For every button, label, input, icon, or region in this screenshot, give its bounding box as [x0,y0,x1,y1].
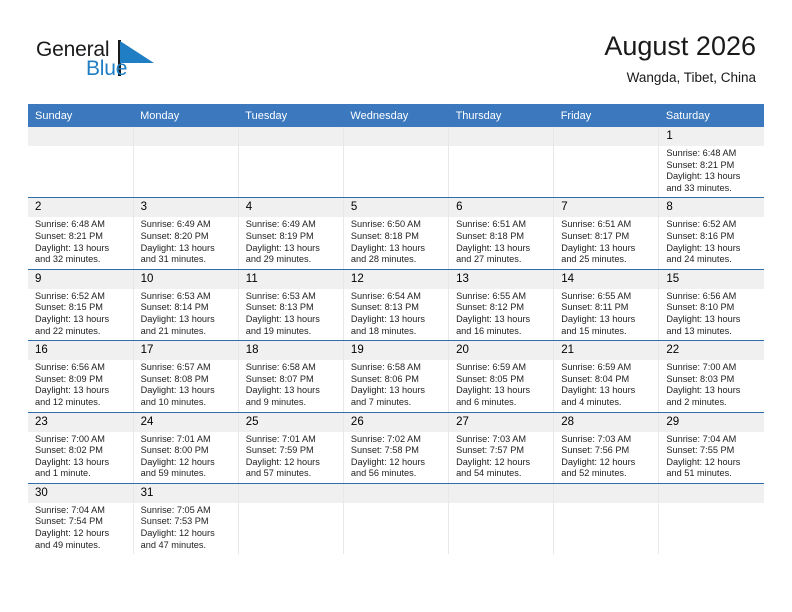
daylight-duration-line1: Daylight: 12 hours [141,457,232,469]
daylight-duration-line1: Daylight: 12 hours [246,457,337,469]
day-sun-info: Sunrise: 6:48 AMSunset: 8:21 PMDaylight:… [28,217,133,268]
daylight-duration-line2: and 28 minutes. [351,254,442,266]
day-cell-empty [28,127,133,198]
day-sun-info: Sunrise: 7:04 AMSunset: 7:55 PMDaylight:… [659,432,764,483]
daylight-duration-line2: and 27 minutes. [456,254,547,266]
calendar-week-row: 1Sunrise: 6:48 AMSunset: 8:21 PMDaylight… [28,127,764,198]
daylight-duration-line2: and 29 minutes. [246,254,337,266]
sunrise-time: Sunrise: 6:57 AM [141,362,232,374]
sunset-time: Sunset: 7:56 PM [561,445,652,457]
page-header: General Blue August 2026 Wangda, Tibet, … [0,0,792,104]
sunrise-time: Sunrise: 7:01 AM [141,434,232,446]
sunset-time: Sunset: 8:20 PM [141,231,232,243]
sunset-time: Sunset: 8:10 PM [666,302,758,314]
sunset-time: Sunset: 7:57 PM [456,445,547,457]
day-number: 25 [239,413,343,432]
sunset-time: Sunset: 8:07 PM [246,374,337,386]
sunset-time: Sunset: 8:21 PM [666,160,758,172]
day-number [554,484,658,503]
day-cell-empty [343,483,448,554]
day-cell-empty [659,483,764,554]
sunrise-time: Sunrise: 6:51 AM [456,219,547,231]
sunset-time: Sunset: 8:16 PM [666,231,758,243]
day-sun-info: Sunrise: 7:03 AMSunset: 7:56 PMDaylight:… [554,432,658,483]
day-cell-empty [554,127,659,198]
sunset-time: Sunset: 8:17 PM [561,231,652,243]
day-number: 10 [134,270,238,289]
sunset-time: Sunset: 7:53 PM [141,516,232,528]
day-number [239,127,343,146]
day-sun-info: Sunrise: 7:01 AMSunset: 8:00 PMDaylight:… [134,432,238,483]
daylight-duration-line2: and 10 minutes. [141,397,232,409]
day-number [28,127,133,146]
sunrise-time: Sunrise: 7:03 AM [561,434,652,446]
day-cell[interactable]: 8Sunrise: 6:52 AMSunset: 8:16 PMDaylight… [659,198,764,269]
day-cell-empty [238,127,343,198]
sunset-time: Sunset: 8:13 PM [351,302,442,314]
weekday-header-row: SundayMondayTuesdayWednesdayThursdayFrid… [28,104,764,127]
sunset-time: Sunset: 8:14 PM [141,302,232,314]
day-number: 26 [344,413,448,432]
daylight-duration-line1: Daylight: 13 hours [141,314,232,326]
daylight-duration-line1: Daylight: 13 hours [246,385,337,397]
day-sun-info: Sunrise: 6:59 AMSunset: 8:04 PMDaylight:… [554,360,658,411]
day-sun-info: Sunrise: 6:56 AMSunset: 8:09 PMDaylight:… [28,360,133,411]
calendar-week-row: 23Sunrise: 7:00 AMSunset: 8:02 PMDayligh… [28,412,764,483]
sunset-time: Sunset: 8:18 PM [456,231,547,243]
daylight-duration-line1: Daylight: 13 hours [666,314,758,326]
sunset-time: Sunset: 8:19 PM [246,231,337,243]
sunrise-time: Sunrise: 6:58 AM [351,362,442,374]
day-cell[interactable]: 22Sunrise: 7:00 AMSunset: 8:03 PMDayligh… [659,341,764,412]
daylight-duration-line1: Daylight: 12 hours [456,457,547,469]
day-cell[interactable]: 30Sunrise: 7:04 AMSunset: 7:54 PMDayligh… [28,483,133,554]
daylight-duration-line1: Daylight: 13 hours [666,171,758,183]
weekday-header-wednesday: Wednesday [343,104,448,127]
day-cell[interactable]: 24Sunrise: 7:01 AMSunset: 8:00 PMDayligh… [133,412,238,483]
day-sun-info: Sunrise: 7:04 AMSunset: 7:54 PMDaylight:… [28,503,133,554]
day-cell-empty [343,127,448,198]
sunrise-sunset-calendar: SundayMondayTuesdayWednesdayThursdayFrid… [28,104,764,554]
title-block: August 2026 Wangda, Tibet, China [604,30,756,88]
day-number: 4 [239,198,343,217]
sunset-time: Sunset: 8:05 PM [456,374,547,386]
day-number [134,127,238,146]
day-number: 2 [28,198,133,217]
daylight-duration-line1: Daylight: 13 hours [141,385,232,397]
day-sun-info: Sunrise: 6:52 AMSunset: 8:16 PMDaylight:… [659,217,764,268]
day-number: 31 [134,484,238,503]
daylight-duration-line1: Daylight: 13 hours [35,457,127,469]
sunset-time: Sunset: 7:54 PM [35,516,127,528]
sunset-time: Sunset: 8:00 PM [141,445,232,457]
day-number [449,484,553,503]
day-sun-info: Sunrise: 6:59 AMSunset: 8:05 PMDaylight:… [449,360,553,411]
day-cell[interactable]: 2Sunrise: 6:48 AMSunset: 8:21 PMDaylight… [28,198,133,269]
day-cell[interactable]: 23Sunrise: 7:00 AMSunset: 8:02 PMDayligh… [28,412,133,483]
day-cell[interactable]: 5Sunrise: 6:50 AMSunset: 8:18 PMDaylight… [343,198,448,269]
daylight-duration-line2: and 25 minutes. [561,254,652,266]
day-sun-info: Sunrise: 6:51 AMSunset: 8:18 PMDaylight:… [449,217,553,268]
sunrise-time: Sunrise: 6:56 AM [35,362,127,374]
calendar-week-row: 9Sunrise: 6:52 AMSunset: 8:15 PMDaylight… [28,269,764,340]
sunrise-time: Sunrise: 6:59 AM [561,362,652,374]
day-number: 27 [449,413,553,432]
sunrise-time: Sunrise: 6:54 AM [351,291,442,303]
weekday-header-sunday: Sunday [28,104,133,127]
day-cell[interactable]: 20Sunrise: 6:59 AMSunset: 8:05 PMDayligh… [449,341,554,412]
day-number: 30 [28,484,133,503]
sunrise-time: Sunrise: 6:52 AM [35,291,127,303]
daylight-duration-line1: Daylight: 13 hours [246,243,337,255]
daylight-duration-line1: Daylight: 12 hours [351,457,442,469]
daylight-duration-line1: Daylight: 13 hours [141,243,232,255]
day-number: 29 [659,413,764,432]
sunrise-time: Sunrise: 6:48 AM [666,148,758,160]
day-sun-info: Sunrise: 7:00 AMSunset: 8:02 PMDaylight:… [28,432,133,483]
day-sun-info: Sunrise: 7:01 AMSunset: 7:59 PMDaylight:… [239,432,343,483]
daylight-duration-line2: and 57 minutes. [246,468,337,480]
day-cell[interactable]: 6Sunrise: 6:51 AMSunset: 8:18 PMDaylight… [449,198,554,269]
sunrise-time: Sunrise: 6:59 AM [456,362,547,374]
day-cell-empty [238,483,343,554]
sunset-time: Sunset: 8:02 PM [35,445,127,457]
day-number: 12 [344,270,448,289]
day-cell[interactable]: 14Sunrise: 6:55 AMSunset: 8:11 PMDayligh… [554,269,659,340]
sunrise-time: Sunrise: 6:55 AM [561,291,652,303]
daylight-duration-line2: and 13 minutes. [666,326,758,338]
day-cell-empty [449,483,554,554]
day-cell[interactable]: 25Sunrise: 7:01 AMSunset: 7:59 PMDayligh… [238,412,343,483]
day-number: 3 [134,198,238,217]
day-number: 22 [659,341,764,360]
daylight-duration-line2: and 16 minutes. [456,326,547,338]
day-sun-info: Sunrise: 6:50 AMSunset: 8:18 PMDaylight:… [344,217,448,268]
daylight-duration-line2: and 56 minutes. [351,468,442,480]
day-number: 21 [554,341,658,360]
day-number [449,127,553,146]
daylight-duration-line1: Daylight: 13 hours [351,243,442,255]
daylight-duration-line1: Daylight: 13 hours [246,314,337,326]
day-number: 15 [659,270,764,289]
day-number: 1 [659,127,764,146]
day-cell[interactable]: 27Sunrise: 7:03 AMSunset: 7:57 PMDayligh… [449,412,554,483]
day-number [659,484,764,503]
sunrise-time: Sunrise: 6:50 AM [351,219,442,231]
sunset-time: Sunset: 7:58 PM [351,445,442,457]
sunset-time: Sunset: 8:11 PM [561,302,652,314]
daylight-duration-line1: Daylight: 13 hours [456,243,547,255]
daylight-duration-line1: Daylight: 13 hours [35,314,127,326]
daylight-duration-line1: Daylight: 13 hours [561,385,652,397]
calendar-week-row: 30Sunrise: 7:04 AMSunset: 7:54 PMDayligh… [28,483,764,554]
daylight-duration-line2: and 32 minutes. [35,254,127,266]
daylight-duration-line1: Daylight: 13 hours [35,385,127,397]
daylight-duration-line1: Daylight: 12 hours [666,457,758,469]
sunrise-time: Sunrise: 6:56 AM [666,291,758,303]
sunset-time: Sunset: 8:03 PM [666,374,758,386]
page-title: August 2026 [604,30,756,62]
logo-text-blue: Blue [86,57,127,81]
daylight-duration-line1: Daylight: 13 hours [666,243,758,255]
sunrise-time: Sunrise: 6:52 AM [666,219,758,231]
day-number: 14 [554,270,658,289]
day-sun-info: Sunrise: 6:52 AMSunset: 8:15 PMDaylight:… [28,289,133,340]
day-sun-info: Sunrise: 6:58 AMSunset: 8:07 PMDaylight:… [239,360,343,411]
day-sun-info: Sunrise: 6:49 AMSunset: 8:19 PMDaylight:… [239,217,343,268]
day-number: 13 [449,270,553,289]
day-cell[interactable]: 7Sunrise: 6:51 AMSunset: 8:17 PMDaylight… [554,198,659,269]
sunset-time: Sunset: 8:04 PM [561,374,652,386]
daylight-duration-line1: Daylight: 13 hours [351,314,442,326]
day-sun-info: Sunrise: 6:53 AMSunset: 8:14 PMDaylight:… [134,289,238,340]
weekday-header-saturday: Saturday [659,104,764,127]
calendar-week-row: 2Sunrise: 6:48 AMSunset: 8:21 PMDaylight… [28,198,764,269]
day-number: 23 [28,413,133,432]
daylight-duration-line2: and 59 minutes. [141,468,232,480]
sunrise-time: Sunrise: 7:04 AM [35,505,127,517]
day-number [554,127,658,146]
calendar-header-row: SundayMondayTuesdayWednesdayThursdayFrid… [28,104,764,127]
day-sun-info: Sunrise: 7:00 AMSunset: 8:03 PMDaylight:… [659,360,764,411]
daylight-duration-line2: and 47 minutes. [141,540,232,552]
day-cell[interactable]: 3Sunrise: 6:49 AMSunset: 8:20 PMDaylight… [133,198,238,269]
sunset-time: Sunset: 8:13 PM [246,302,337,314]
day-cell[interactable]: 18Sunrise: 6:58 AMSunset: 8:07 PMDayligh… [238,341,343,412]
day-sun-info: Sunrise: 6:55 AMSunset: 8:12 PMDaylight:… [449,289,553,340]
daylight-duration-line1: Daylight: 13 hours [456,314,547,326]
daylight-duration-line2: and 12 minutes. [35,397,127,409]
sunset-time: Sunset: 8:09 PM [35,374,127,386]
day-sun-info: Sunrise: 7:02 AMSunset: 7:58 PMDaylight:… [344,432,448,483]
sunrise-time: Sunrise: 7:05 AM [141,505,232,517]
daylight-duration-line1: Daylight: 13 hours [561,243,652,255]
daylight-duration-line2: and 52 minutes. [561,468,652,480]
day-sun-info: Sunrise: 7:05 AMSunset: 7:53 PMDaylight:… [134,503,238,554]
day-cell[interactable]: 9Sunrise: 6:52 AMSunset: 8:15 PMDaylight… [28,269,133,340]
day-cell[interactable]: 16Sunrise: 6:56 AMSunset: 8:09 PMDayligh… [28,341,133,412]
day-number [344,484,448,503]
page-subtitle: Wangda, Tibet, China [604,68,756,88]
sunset-time: Sunset: 8:06 PM [351,374,442,386]
sunset-time: Sunset: 8:15 PM [35,302,127,314]
day-sun-info: Sunrise: 6:54 AMSunset: 8:13 PMDaylight:… [344,289,448,340]
sunrise-time: Sunrise: 6:51 AM [561,219,652,231]
sunrise-time: Sunrise: 7:02 AM [351,434,442,446]
day-cell[interactable]: 1Sunrise: 6:48 AMSunset: 8:21 PMDaylight… [659,127,764,198]
daylight-duration-line2: and 18 minutes. [351,326,442,338]
daylight-duration-line2: and 21 minutes. [141,326,232,338]
day-cell[interactable]: 11Sunrise: 6:53 AMSunset: 8:13 PMDayligh… [238,269,343,340]
day-cell[interactable]: 28Sunrise: 7:03 AMSunset: 7:56 PMDayligh… [554,412,659,483]
day-number: 5 [344,198,448,217]
daylight-duration-line1: Daylight: 13 hours [561,314,652,326]
day-sun-info: Sunrise: 6:48 AMSunset: 8:21 PMDaylight:… [659,146,764,197]
day-sun-info: Sunrise: 6:56 AMSunset: 8:10 PMDaylight:… [659,289,764,340]
day-cell-empty [554,483,659,554]
sunrise-time: Sunrise: 6:49 AM [141,219,232,231]
day-number: 7 [554,198,658,217]
day-number [344,127,448,146]
sunrise-time: Sunrise: 6:48 AM [35,219,127,231]
daylight-duration-line1: Daylight: 12 hours [141,528,232,540]
sunrise-time: Sunrise: 6:55 AM [456,291,547,303]
daylight-duration-line2: and 49 minutes. [35,540,127,552]
daylight-duration-line1: Daylight: 13 hours [456,385,547,397]
sunrise-time: Sunrise: 7:04 AM [666,434,758,446]
day-cell[interactable]: 19Sunrise: 6:58 AMSunset: 8:06 PMDayligh… [343,341,448,412]
daylight-duration-line2: and 2 minutes. [666,397,758,409]
sunset-time: Sunset: 8:18 PM [351,231,442,243]
calendar-page: General Blue August 2026 Wangda, Tibet, … [0,0,792,612]
day-number: 17 [134,341,238,360]
daylight-duration-line2: and 22 minutes. [35,326,127,338]
daylight-duration-line2: and 54 minutes. [456,468,547,480]
sunrise-time: Sunrise: 6:53 AM [141,291,232,303]
day-number: 20 [449,341,553,360]
day-cell[interactable]: 21Sunrise: 6:59 AMSunset: 8:04 PMDayligh… [554,341,659,412]
sunrise-time: Sunrise: 7:01 AM [246,434,337,446]
day-sun-info: Sunrise: 6:53 AMSunset: 8:13 PMDaylight:… [239,289,343,340]
daylight-duration-line2: and 51 minutes. [666,468,758,480]
day-sun-info: Sunrise: 7:03 AMSunset: 7:57 PMDaylight:… [449,432,553,483]
day-number: 16 [28,341,133,360]
day-sun-info: Sunrise: 6:51 AMSunset: 8:17 PMDaylight:… [554,217,658,268]
daylight-duration-line2: and 15 minutes. [561,326,652,338]
day-sun-info: Sunrise: 6:58 AMSunset: 8:06 PMDaylight:… [344,360,448,411]
sunrise-time: Sunrise: 6:49 AM [246,219,337,231]
day-cell[interactable]: 31Sunrise: 7:05 AMSunset: 7:53 PMDayligh… [133,483,238,554]
day-cell[interactable]: 12Sunrise: 6:54 AMSunset: 8:13 PMDayligh… [343,269,448,340]
day-number: 18 [239,341,343,360]
day-sun-info: Sunrise: 6:55 AMSunset: 8:11 PMDaylight:… [554,289,658,340]
daylight-duration-line2: and 9 minutes. [246,397,337,409]
daylight-duration-line2: and 19 minutes. [246,326,337,338]
sunset-time: Sunset: 7:59 PM [246,445,337,457]
sunrise-time: Sunrise: 7:00 AM [666,362,758,374]
sunset-time: Sunset: 8:21 PM [35,231,127,243]
day-cell[interactable]: 13Sunrise: 6:55 AMSunset: 8:12 PMDayligh… [449,269,554,340]
daylight-duration-line2: and 7 minutes. [351,397,442,409]
day-cell[interactable]: 17Sunrise: 6:57 AMSunset: 8:08 PMDayligh… [133,341,238,412]
day-number: 11 [239,270,343,289]
daylight-duration-line2: and 24 minutes. [666,254,758,266]
day-number: 9 [28,270,133,289]
daylight-duration-line2: and 33 minutes. [666,183,758,195]
generalblue-logo[interactable]: General Blue [36,38,176,88]
day-number: 19 [344,341,448,360]
day-cell[interactable]: 26Sunrise: 7:02 AMSunset: 7:58 PMDayligh… [343,412,448,483]
calendar-body: 1Sunrise: 6:48 AMSunset: 8:21 PMDaylight… [28,127,764,554]
day-cell[interactable]: 10Sunrise: 6:53 AMSunset: 8:14 PMDayligh… [133,269,238,340]
sunrise-time: Sunrise: 6:58 AM [246,362,337,374]
daylight-duration-line1: Daylight: 12 hours [561,457,652,469]
sunrise-time: Sunrise: 7:00 AM [35,434,127,446]
daylight-duration-line2: and 1 minute. [35,468,127,480]
weekday-header-thursday: Thursday [449,104,554,127]
day-sun-info: Sunrise: 6:57 AMSunset: 8:08 PMDaylight:… [134,360,238,411]
day-number: 24 [134,413,238,432]
daylight-duration-line1: Daylight: 13 hours [351,385,442,397]
daylight-duration-line2: and 6 minutes. [456,397,547,409]
day-cell[interactable]: 4Sunrise: 6:49 AMSunset: 8:19 PMDaylight… [238,198,343,269]
day-number: 8 [659,198,764,217]
calendar-week-row: 16Sunrise: 6:56 AMSunset: 8:09 PMDayligh… [28,341,764,412]
sunset-time: Sunset: 8:12 PM [456,302,547,314]
weekday-header-tuesday: Tuesday [238,104,343,127]
day-cell[interactable]: 29Sunrise: 7:04 AMSunset: 7:55 PMDayligh… [659,412,764,483]
day-number: 28 [554,413,658,432]
daylight-duration-line1: Daylight: 13 hours [666,385,758,397]
daylight-duration-line2: and 31 minutes. [141,254,232,266]
daylight-duration-line1: Daylight: 12 hours [35,528,127,540]
day-sun-info: Sunrise: 6:49 AMSunset: 8:20 PMDaylight:… [134,217,238,268]
weekday-header-friday: Friday [554,104,659,127]
sunset-time: Sunset: 8:08 PM [141,374,232,386]
day-cell-empty [133,127,238,198]
day-number [239,484,343,503]
day-number: 6 [449,198,553,217]
weekday-header-monday: Monday [133,104,238,127]
day-cell[interactable]: 15Sunrise: 6:56 AMSunset: 8:10 PMDayligh… [659,269,764,340]
day-cell-empty [449,127,554,198]
daylight-duration-line1: Daylight: 13 hours [35,243,127,255]
sunrise-time: Sunrise: 7:03 AM [456,434,547,446]
sunset-time: Sunset: 7:55 PM [666,445,758,457]
sunrise-time: Sunrise: 6:53 AM [246,291,337,303]
daylight-duration-line2: and 4 minutes. [561,397,652,409]
